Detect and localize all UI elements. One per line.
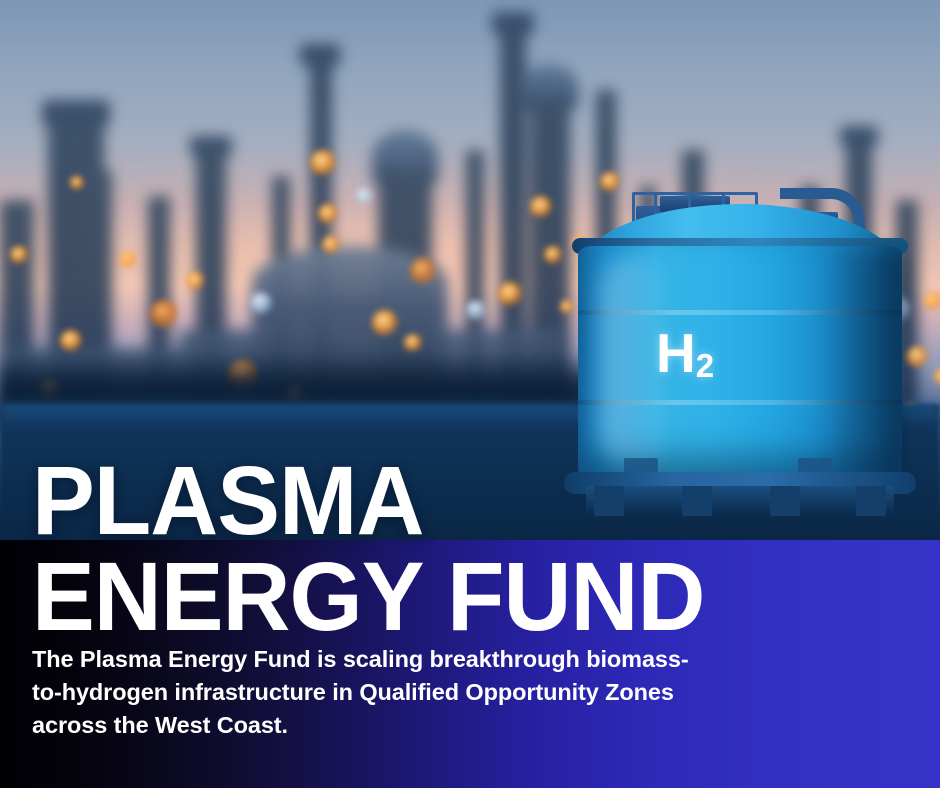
tank-base-frame: [586, 486, 894, 514]
tank-foot: [770, 486, 800, 516]
tank-shadow: [812, 250, 904, 478]
hydrogen-storage-tank: H2: [560, 186, 920, 516]
subheadline-line-1: The Plasma Energy Fund is scaling breakt…: [32, 643, 772, 676]
h2-subscript: 2: [696, 347, 713, 384]
tank-foot: [682, 486, 712, 516]
poster-canvas: H2 PLASMA ENERGY FUND The Plasma Energy …: [0, 0, 940, 788]
tank-foot: [594, 486, 624, 516]
h2-element-symbol: H: [656, 322, 695, 384]
page-title-line-2: ENERGY FUND: [32, 548, 704, 645]
page-title-line-1: PLASMA: [32, 452, 423, 549]
tank-foot: [856, 486, 886, 516]
h2-label: H2: [656, 326, 806, 381]
subheadline-line-3: across the West Coast.: [32, 709, 772, 742]
subheadline-line-2: to-hydrogen infrastructure in Qualified …: [32, 676, 772, 709]
subheadline: The Plasma Energy Fund is scaling breakt…: [32, 643, 772, 742]
